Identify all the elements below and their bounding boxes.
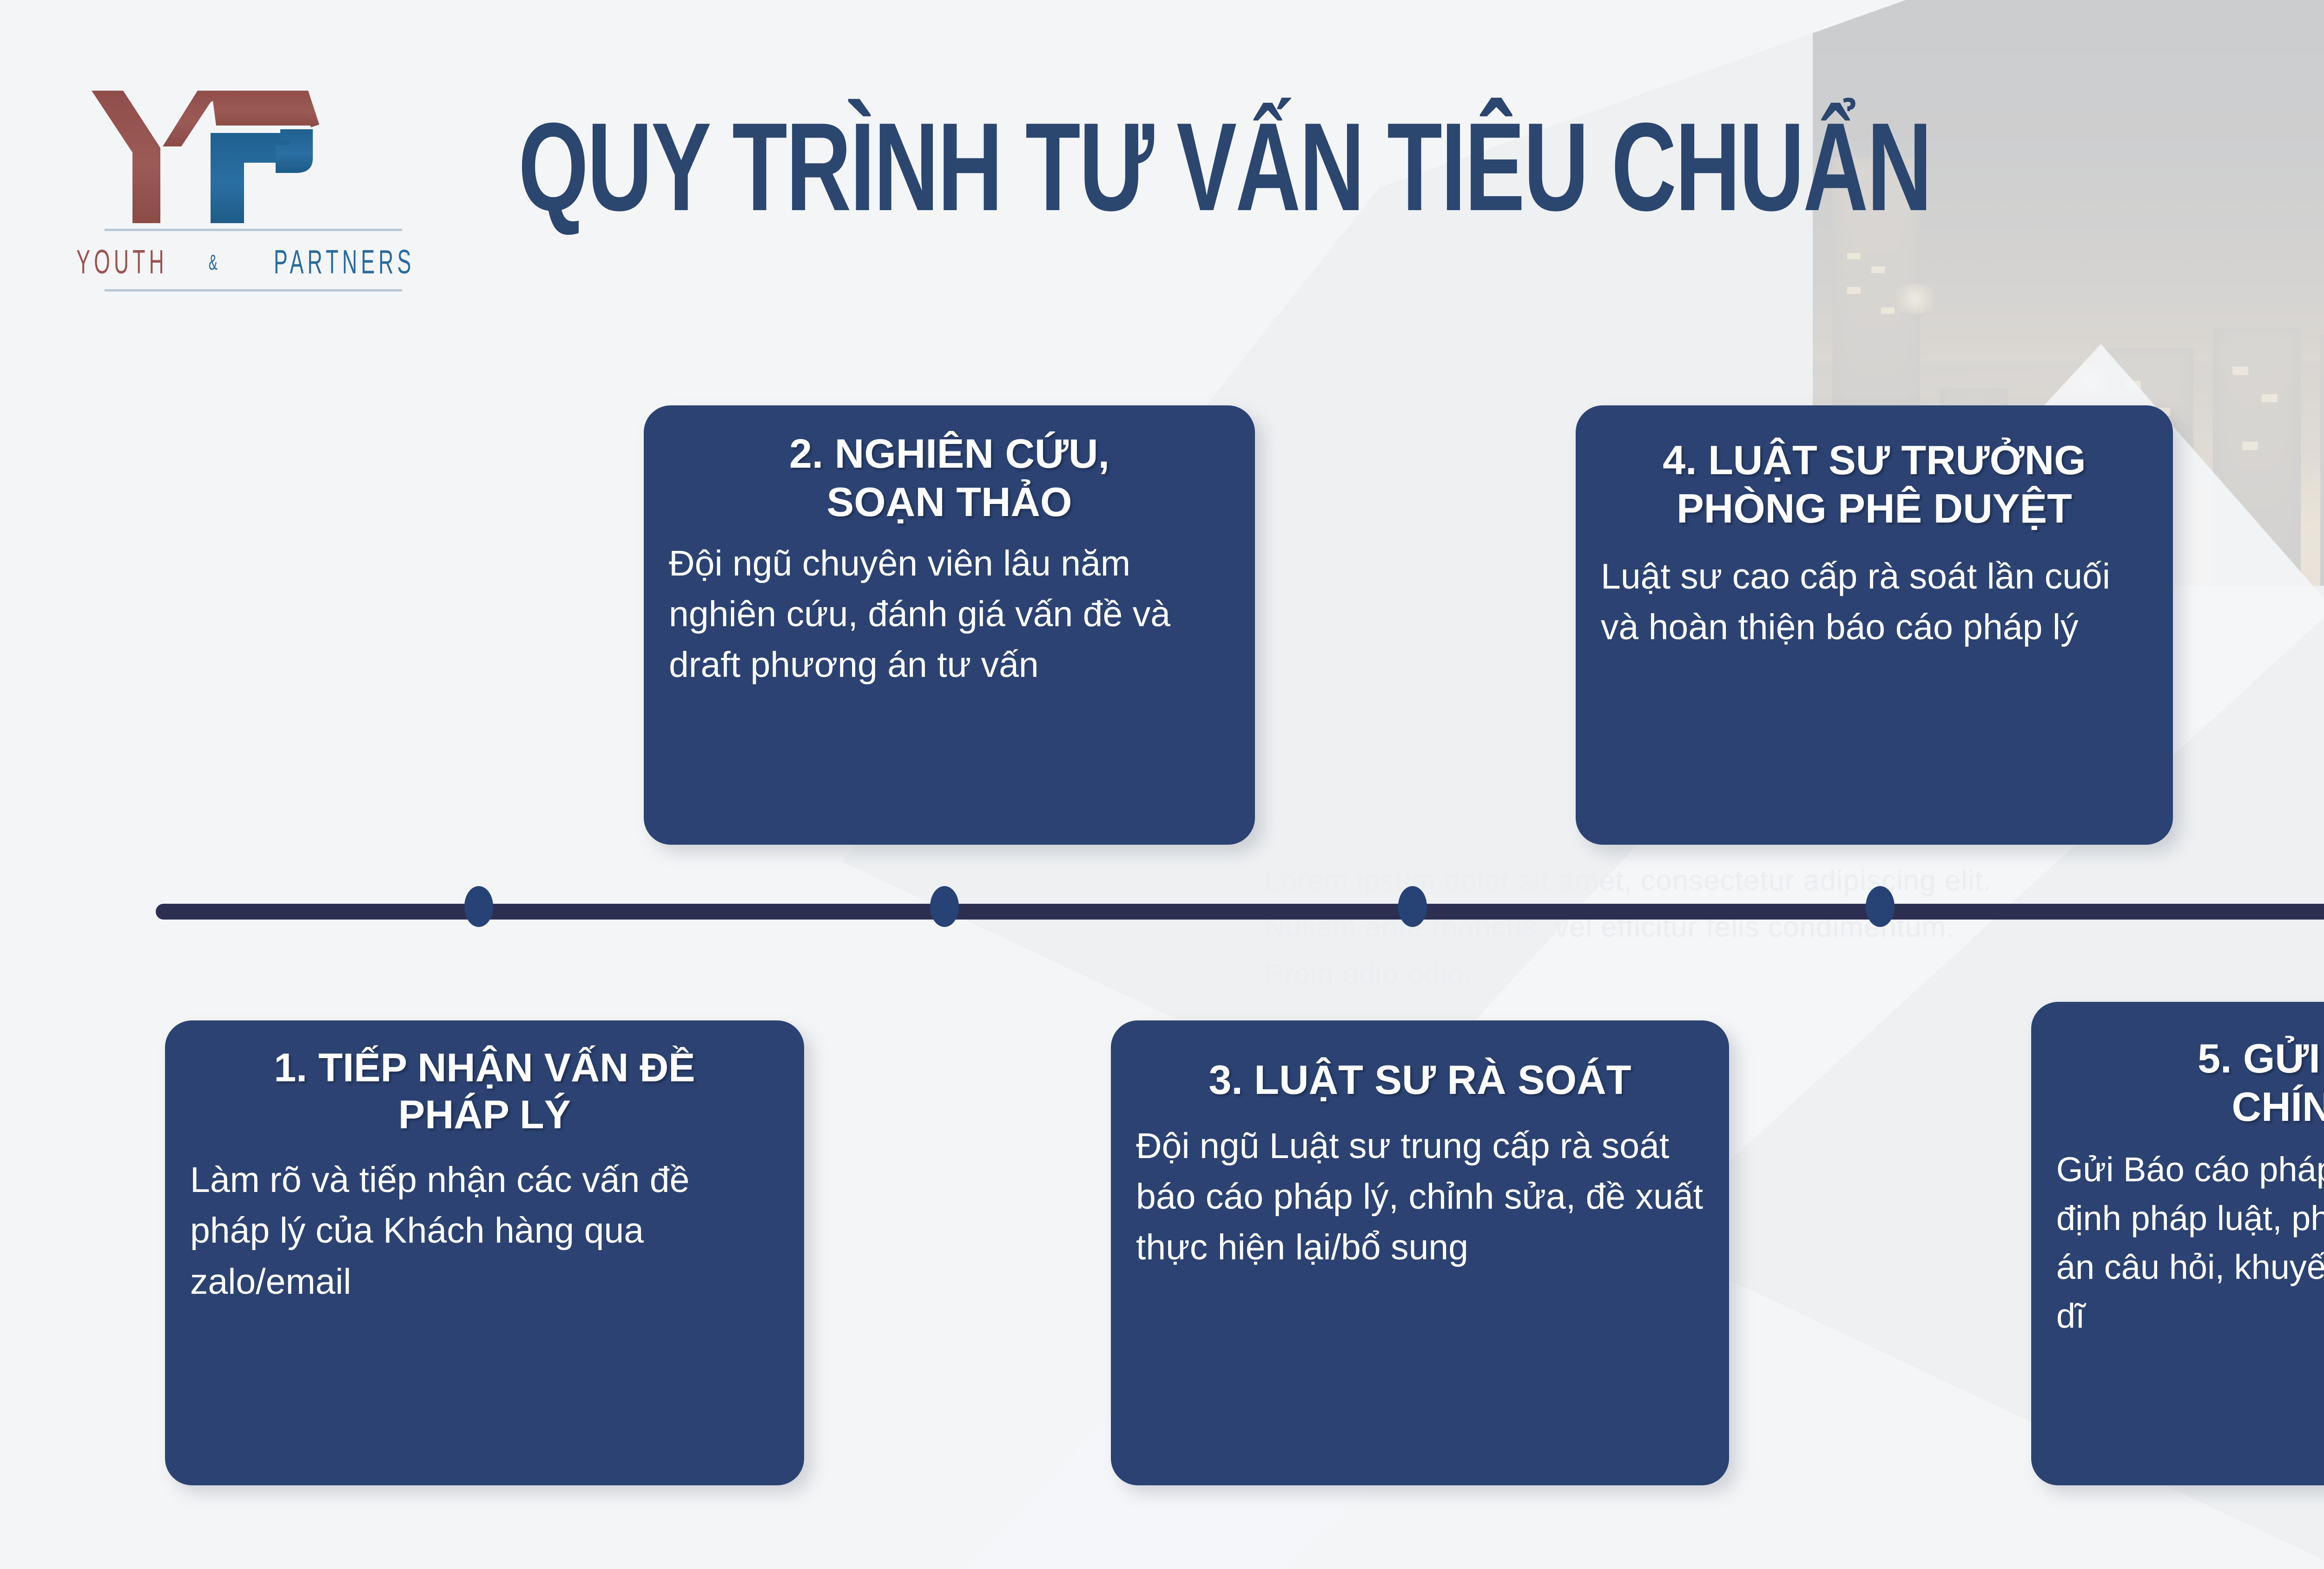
step-card-2-title: 2. NGHIÊN CỨU, SOẠN THẢO bbox=[669, 430, 1230, 526]
logo-word-youth: YOUTH bbox=[77, 243, 168, 281]
logo-wordmark: YOUTH & PARTNERS bbox=[105, 238, 402, 286]
logo-monogram-yp bbox=[91, 88, 416, 223]
brand-logo: YOUTH & PARTNERS bbox=[91, 88, 416, 284]
slide-canvas: Lorem ipsum dolor sit amet, consectetur … bbox=[0, 0, 2324, 1569]
step-card-2-body: Đội ngũ chuyên viên lâu năm nghiên cứu, … bbox=[669, 538, 1230, 691]
step-card-1-body: Làm rõ và tiếp nhận các vấn đề pháp lý c… bbox=[190, 1155, 779, 1307]
step-card-3[interactable]: 3. LUẬT SƯ RÀ SOÁT Đội ngũ Luật sư trung… bbox=[1111, 1020, 1729, 1485]
step-card-5[interactable]: 5. GỬI BÁO CÁO CHÍNH THỨC Gửi Báo cáo ph… bbox=[2031, 1002, 2324, 1485]
logo-rule-bottom bbox=[105, 289, 402, 291]
step-card-5-body: Gửi Báo cáo pháp lý với đầy đủ: Quy định… bbox=[2056, 1145, 2324, 1340]
step-card-1[interactable]: 1. TIẾP NHẬN VẤN ĐỀ PHÁP LÝ Làm rõ và ti… bbox=[165, 1020, 804, 1485]
logo-word-ampersand: & bbox=[209, 250, 218, 275]
step-card-3-title: 3. LUẬT SƯ RÀ SOÁT bbox=[1136, 1045, 1704, 1104]
logo-word-partners: PARTNERS bbox=[274, 243, 415, 281]
step-card-2[interactable]: 2. NGHIÊN CỨU, SOẠN THẢO Đội ngũ chuyên … bbox=[644, 405, 1255, 845]
step-card-3-body: Đội ngũ Luật sư trung cấp rà soát báo cá… bbox=[1136, 1121, 1704, 1273]
step-card-4-title: 4. LUẬT SƯ TRƯỞNG PHÒNG PHÊ DUYỆT bbox=[1601, 430, 2148, 533]
step-card-4[interactable]: 4. LUẬT SƯ TRƯỞNG PHÒNG PHÊ DUYỆT Luật s… bbox=[1576, 405, 2173, 845]
timeline-dot-1[interactable] bbox=[464, 886, 493, 927]
step-card-1-title: 1. TIẾP NHẬN VẤN ĐỀ PHÁP LÝ bbox=[190, 1045, 779, 1139]
logo-rule-top bbox=[105, 229, 402, 231]
step-card-5-title: 5. GỬI BÁO CÁO CHÍNH THỨC bbox=[2056, 1026, 2324, 1131]
timeline-dot-3[interactable] bbox=[1398, 886, 1427, 927]
timeline-dot-4[interactable] bbox=[1866, 886, 1895, 927]
step-card-4-body: Luật sư cao cấp rà soát lần cuối và hoàn… bbox=[1601, 551, 2148, 653]
page-title: QUY TRÌNH TƯ VẤN TIÊU CHUẨN bbox=[518, 105, 1931, 230]
timeline-dot-2[interactable] bbox=[930, 886, 959, 927]
